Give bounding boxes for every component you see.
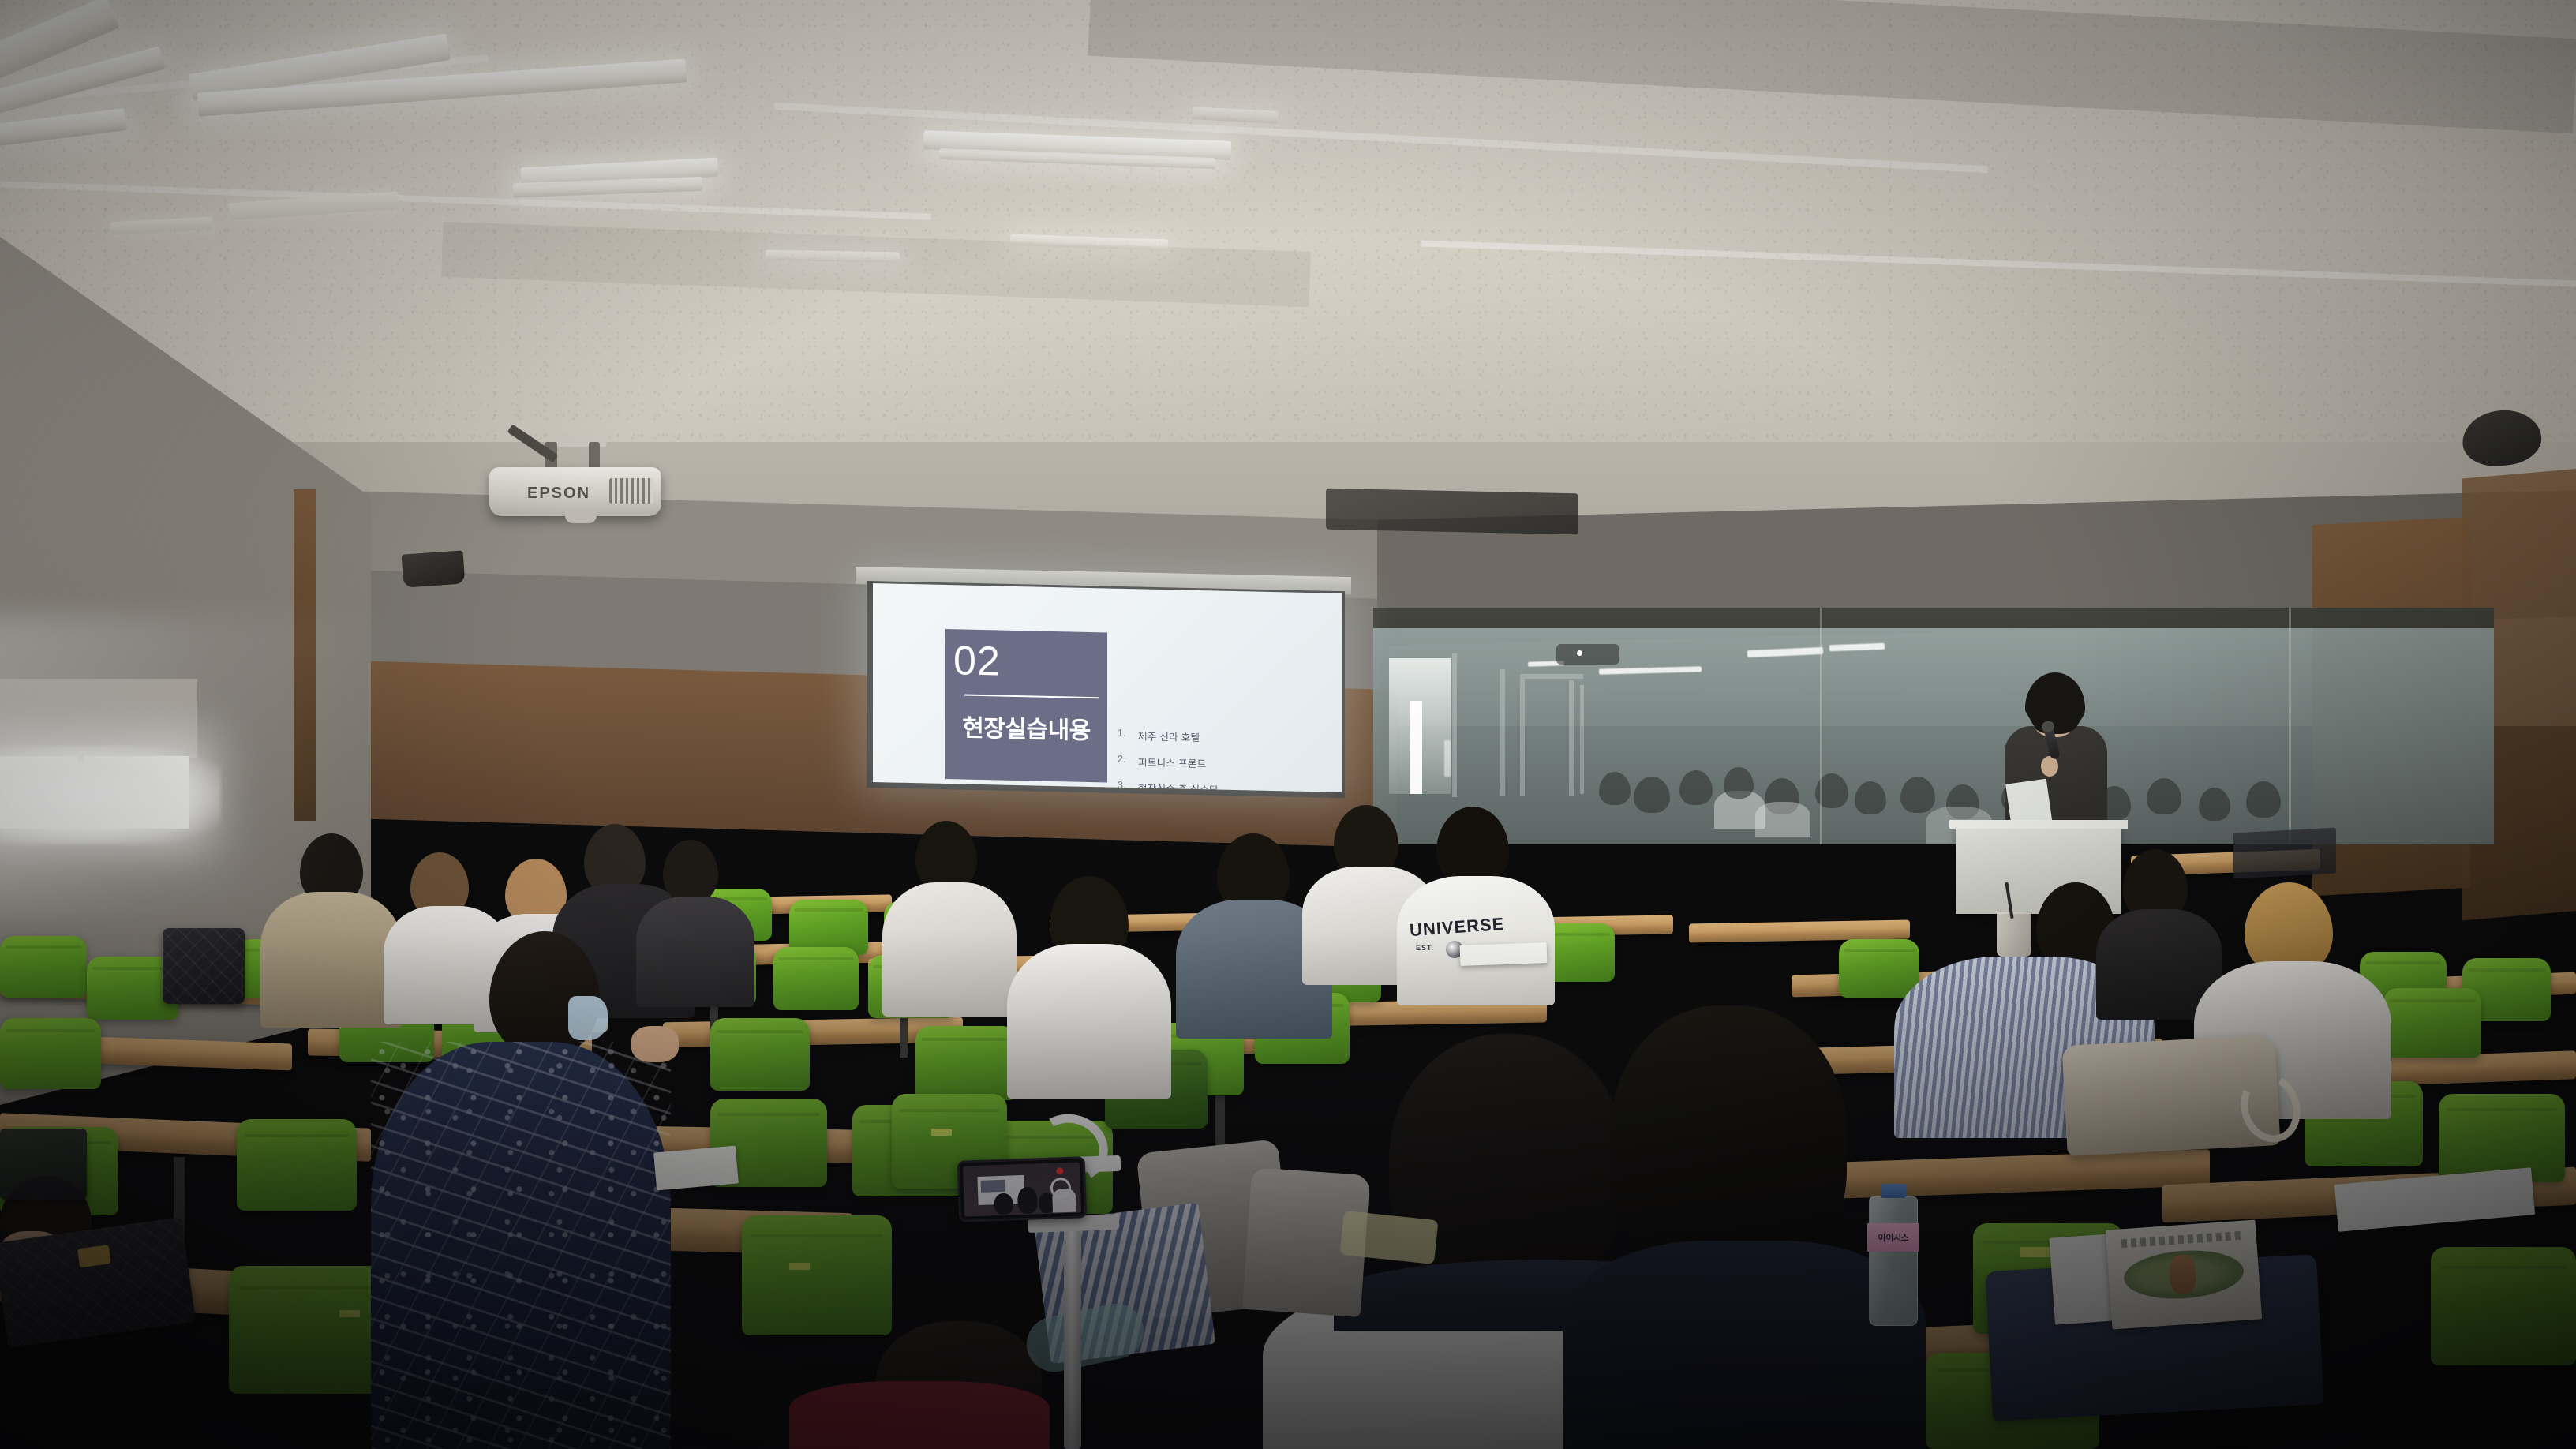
student-head — [663, 840, 718, 904]
papers — [1460, 942, 1548, 966]
chair[interactable] — [2439, 1094, 2565, 1182]
chair[interactable] — [237, 1119, 357, 1211]
projector-lens-icon — [565, 511, 597, 523]
slide: 02 현장실습내용 1. 제주 신라 호텔 2. 피트니스 프론트 3. 현장실… — [873, 583, 1342, 792]
glass-reflection-light — [1599, 666, 1702, 674]
podium-top — [1949, 820, 2128, 829]
ceiling-vent — [1326, 489, 1578, 535]
student-garment — [789, 1381, 1050, 1449]
tee-graphic-sub: EST. — [1416, 944, 1434, 952]
glass-reflection-frame — [1452, 653, 1457, 797]
face-mask — [568, 996, 608, 1040]
glass-reflection-person — [1900, 777, 1935, 813]
slide-list-item: 2. 피트니스 프론트 — [1118, 754, 1315, 773]
glass-reflection-projector-led — [1577, 650, 1582, 656]
glass-reflection-person — [1679, 770, 1713, 805]
bottle-label: 아이시스 — [1867, 1223, 1919, 1252]
chair[interactable] — [710, 1018, 810, 1091]
chair-sticker — [339, 1310, 360, 1317]
glass-reflection-frame — [1500, 669, 1505, 796]
glass-reflection-light — [1747, 647, 1823, 657]
glass-reflection-person — [2147, 778, 2181, 814]
phone-record-indicator-icon — [1056, 1168, 1063, 1175]
wall-trim — [294, 489, 316, 821]
phone-viewfinder-slide-block — [981, 1180, 1005, 1193]
chair-sticker — [2020, 1247, 2052, 1257]
glass-reflection-frame — [1520, 674, 1583, 679]
window-glow — [0, 746, 221, 844]
water-bottle: 아이시스 — [1869, 1184, 1918, 1326]
student-torso — [371, 1042, 671, 1449]
projector: EPSON — [489, 467, 661, 516]
slide-divider — [964, 695, 1099, 699]
glass-top-frame — [1373, 608, 2494, 628]
chair[interactable] — [2383, 988, 2481, 1058]
slide-list-text: 제주 신라 호텔 — [1138, 728, 1200, 744]
student-hand — [631, 1026, 679, 1062]
student-torso — [1007, 944, 1171, 1099]
chair[interactable] — [0, 936, 87, 998]
slide-section-block: 02 현장실습내용 — [945, 629, 1107, 782]
book-title-text — [2121, 1230, 2241, 1248]
wall-speaker-icon — [402, 550, 466, 587]
slide-list-number: 1. — [1118, 728, 1129, 743]
student-torso: UNIVERSE EST. — [1397, 876, 1555, 1005]
glass-reflection-person — [1634, 777, 1670, 813]
glass-partition-wall — [1373, 608, 2494, 844]
student-torso — [636, 897, 754, 1007]
blouse-pattern — [371, 1042, 671, 1449]
slide-section-title: 현장실습내용 — [945, 708, 1107, 746]
slide-list-number: 2. — [1118, 754, 1129, 769]
tube-object — [1021, 1298, 1148, 1377]
bottle-cap — [1881, 1184, 1906, 1198]
slide-list: 1. 제주 신라 호텔 2. 피트니스 프론트 3. 현장실습 중 실수담 — [1118, 728, 1315, 792]
glass-mullion — [2289, 608, 2291, 844]
chair-sticker — [931, 1129, 952, 1136]
classroom-photo: EPSON 02 현장실습내용 1. 제주 신라 호텔 2. 피트니스 프론트 — [0, 0, 2576, 1449]
tee-graphic-text: UNIVERSE — [1409, 914, 1505, 941]
glass-reflection-frame — [1520, 679, 1525, 796]
student-torso — [882, 882, 1017, 1017]
projector-mount — [550, 432, 610, 447]
projector-brand-label: EPSON — [527, 485, 590, 503]
chair[interactable] — [2431, 1247, 2576, 1365]
chair[interactable] — [915, 1026, 1017, 1100]
tripod-pole — [1064, 1200, 1081, 1449]
glass-reflection-light — [1444, 740, 1451, 777]
chair[interactable] — [1839, 939, 1919, 998]
phone-viewfinder-person — [994, 1193, 1014, 1215]
phone-screen[interactable] — [963, 1162, 1081, 1216]
glass-mullion — [1820, 608, 1822, 844]
chair[interactable] — [0, 1018, 101, 1089]
papers — [653, 1146, 739, 1191]
glass-reflection-projector-icon — [1556, 644, 1619, 665]
phone-viewfinder-person — [1017, 1187, 1038, 1214]
glass-reflection-window — [1410, 701, 1422, 794]
glass-reflection-light — [1829, 643, 1885, 651]
glass-reflection-person — [1599, 772, 1631, 805]
black-bag — [163, 928, 245, 1004]
chair[interactable] — [742, 1215, 892, 1335]
glass-reflection-person — [1724, 767, 1754, 799]
chair-sticker — [789, 1263, 810, 1270]
chair[interactable] — [773, 947, 859, 1010]
student-torso — [260, 892, 402, 1028]
illustrated-book — [2106, 1220, 2262, 1330]
book-cover-illustration — [2122, 1247, 2245, 1303]
glass-reflection-frame — [1569, 680, 1574, 796]
bottle-brand-text: 아이시스 — [1878, 1231, 1908, 1244]
black-bag — [0, 1129, 87, 1200]
slide-list-item: 1. 제주 신라 호텔 — [1118, 728, 1315, 747]
drink-cup — [1997, 912, 2031, 957]
slide-section-number: 02 — [953, 640, 1001, 682]
projector-vent-icon — [609, 478, 653, 504]
bag-quilt-texture — [163, 928, 245, 1004]
smartphone[interactable] — [957, 1156, 1088, 1222]
projection-screen: 02 현장실습내용 1. 제주 신라 호텔 2. 피트니스 프론트 3. 현장실… — [873, 583, 1342, 792]
glass-reflection-frame — [1580, 685, 1584, 794]
front-equipment — [2233, 828, 2336, 879]
presenter-hand — [2041, 756, 2058, 777]
glass-reflection-person — [1755, 802, 1810, 837]
glass-reflection-person — [2199, 788, 2230, 821]
bottle-body — [1869, 1196, 1918, 1326]
chair[interactable] — [229, 1266, 387, 1394]
slide-list-text: 피트니스 프론트 — [1138, 754, 1206, 770]
glass-reflection-person — [1855, 781, 1886, 814]
glass-reflection-person — [2246, 781, 2281, 818]
